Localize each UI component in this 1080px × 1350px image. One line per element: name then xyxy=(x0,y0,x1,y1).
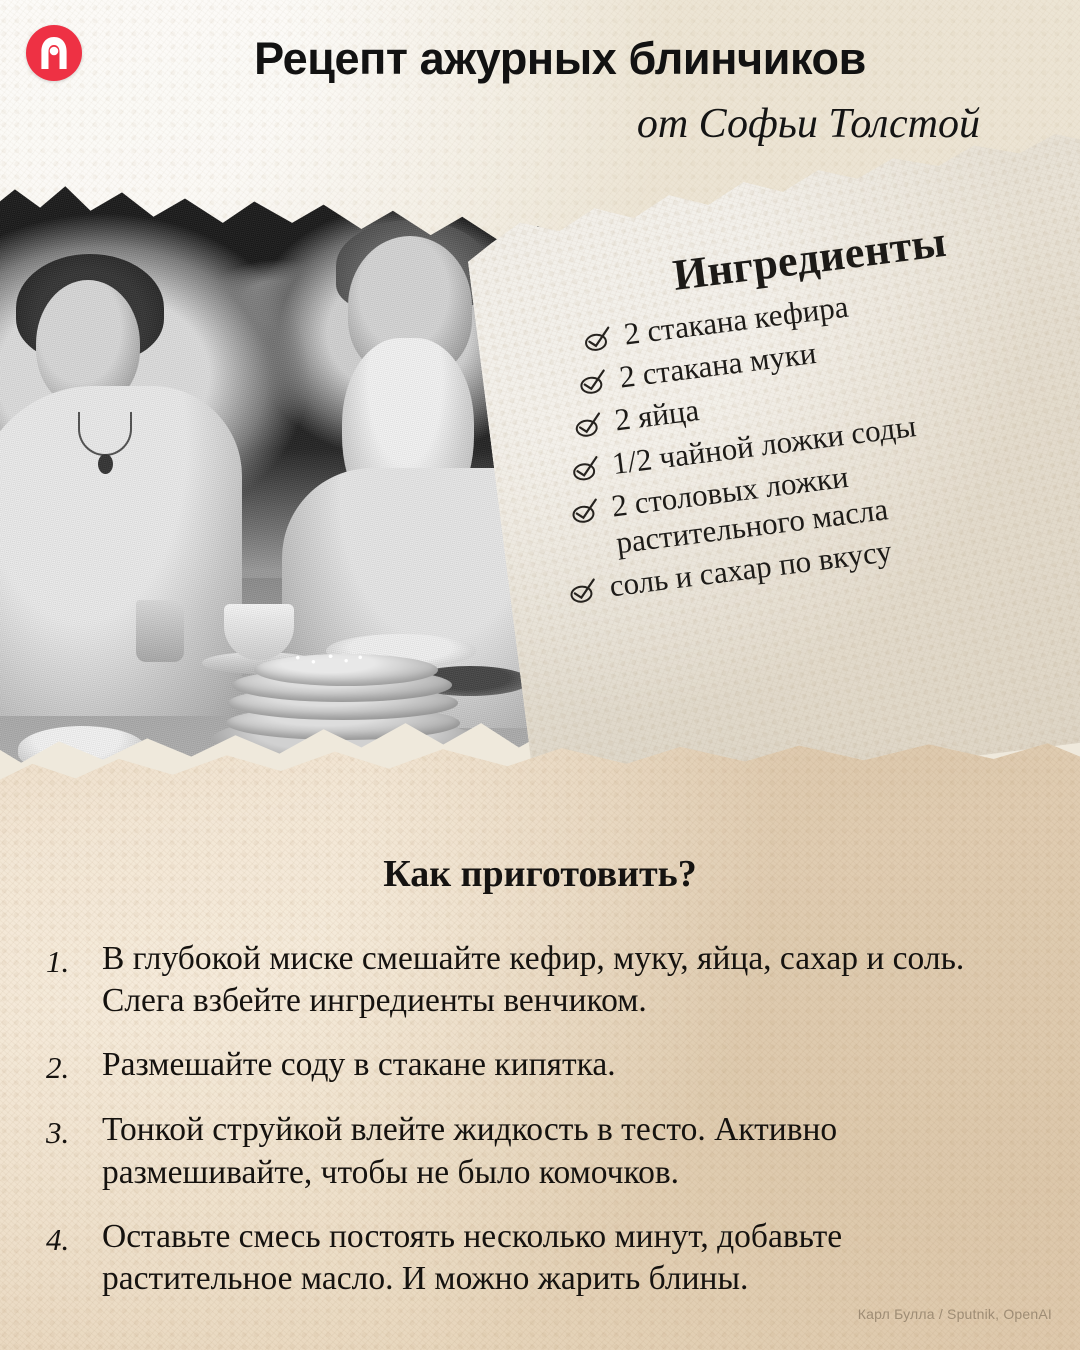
ingredients-list: 2 стакана кефира 2 стакана муки xyxy=(550,259,1080,608)
step-text: Оставьте смесь постоять несколько минут,… xyxy=(102,1216,1036,1300)
photo-credit: Карл Булла / Sputnik, OpenAI xyxy=(858,1306,1052,1322)
arch-logo-icon xyxy=(26,25,82,81)
instruction-step: 3. Тонкой струйкой влейте жидкость в тес… xyxy=(46,1109,1036,1193)
photo-glass xyxy=(136,600,184,662)
step-number: 2. xyxy=(46,1044,102,1087)
instructions-heading: Как приготовить? xyxy=(0,852,1080,896)
stack-of-pancakes xyxy=(212,638,474,762)
brand-logo[interactable] xyxy=(26,25,82,81)
check-circle-icon xyxy=(581,321,615,355)
step-text: Размешайте соду в стакане кипятка. xyxy=(102,1044,1036,1086)
instruction-step: 1. В глубокой миске смешайте кефир, муку… xyxy=(46,938,1036,1022)
check-circle-icon xyxy=(566,573,600,607)
instruction-step: 4. Оставьте смесь постоять несколько мин… xyxy=(46,1216,1036,1300)
step-text: В глубокой миске смешайте кефир, муку, я… xyxy=(102,938,1036,1022)
check-circle-icon xyxy=(576,364,610,398)
ingredient-label: 2 яйца xyxy=(613,392,701,439)
photo-pendant xyxy=(98,454,113,474)
instruction-step: 2. Размешайте соду в стакане кипятка. xyxy=(46,1044,1036,1087)
step-number: 4. xyxy=(46,1216,102,1259)
step-number: 3. xyxy=(46,1109,102,1152)
step-number: 1. xyxy=(46,938,102,981)
check-circle-icon xyxy=(569,450,603,484)
instructions-list: 1. В глубокой миске смешайте кефир, муку… xyxy=(46,938,1036,1322)
recipe-infographic: Рецепт ажурных блинчиков от Софьи Толсто… xyxy=(0,0,1080,1350)
page-title: Рецепт ажурных блинчиков xyxy=(120,33,1000,85)
check-circle-icon xyxy=(568,493,602,527)
check-circle-icon xyxy=(571,408,605,442)
step-text: Тонкой струйкой влейте жидкость в тесто.… xyxy=(102,1109,1036,1193)
page-subtitle: от Софьи Толстой xyxy=(120,100,980,148)
sugar-sprinkle xyxy=(290,652,368,666)
